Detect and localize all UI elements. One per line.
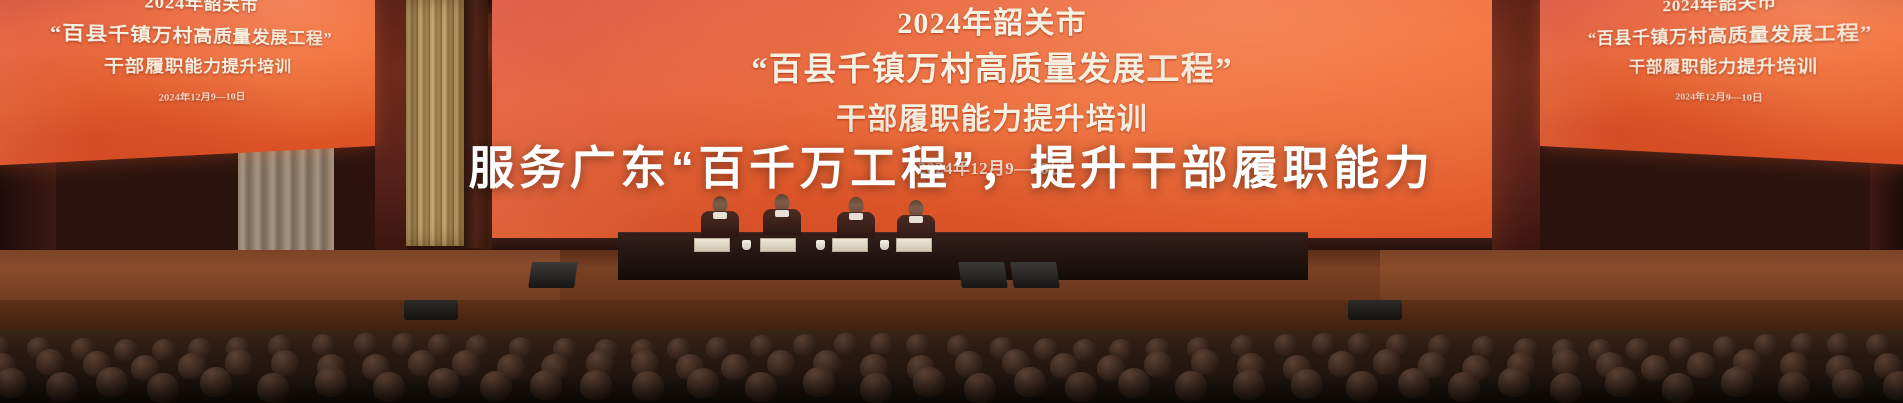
seated-official — [896, 200, 936, 242]
table-nameplate — [896, 238, 932, 252]
seated-official — [762, 194, 802, 236]
led-center-line3: 干部履职能力提升培训 — [492, 94, 1492, 138]
audience-head — [1312, 333, 1336, 355]
seated-official — [836, 197, 876, 239]
audience-head — [1348, 333, 1372, 355]
stage-floor-monitor — [958, 262, 1008, 288]
audience-head — [1073, 339, 1097, 361]
audience-head — [793, 334, 817, 356]
led-center-line2: “百县千镇万村高质量发展工程” — [492, 42, 1492, 90]
led-left-line2: “百县千镇万村高质量发展工程” — [0, 14, 375, 50]
led-right-line3: 干部履职能力提升培训 — [1540, 52, 1903, 79]
audience-head — [834, 333, 858, 355]
water-cup — [742, 240, 751, 250]
led-center-line1: 2024年韶关市 — [492, 0, 1492, 42]
stage-planter — [1348, 300, 1402, 320]
audience-head — [312, 334, 336, 356]
table-nameplate — [694, 238, 730, 252]
audience-head — [1274, 334, 1298, 356]
stage-floor-monitor — [528, 262, 578, 288]
led-screen-center: 2024年韶关市 “百县千镇万村高质量发展工程” 干部履职能力提升培训 2024… — [492, 0, 1492, 256]
water-cup — [816, 240, 825, 250]
person-collar — [775, 210, 789, 217]
audience-head — [1552, 349, 1580, 375]
led-left-line3: 干部履职能力提升培训 — [0, 52, 375, 79]
led-screen-right: 2024年韶关市 “百县千镇万村高质量发展工程” 干部履职能力提升培训 2024… — [1540, 0, 1903, 167]
audience-head — [354, 333, 378, 355]
audience-head — [392, 333, 416, 355]
audience-head — [225, 349, 253, 375]
water-cup — [880, 240, 889, 250]
audience-head — [152, 339, 176, 361]
led-screen-left: 2024年韶关市 “百县千镇万村高质量发展工程” 干部履职能力提升培训 2024… — [0, 0, 375, 166]
audience-head — [870, 333, 894, 355]
table-nameplate — [760, 238, 796, 252]
audience-head — [1827, 333, 1851, 355]
person-collar — [909, 216, 923, 223]
led-right-line4: 2024年12月9—10日 — [1540, 88, 1903, 108]
conference-hall-photo: 2024年韶关市 “百县千镇万村高质量发展工程” 干部履职能力提升培训 2024… — [0, 0, 1903, 403]
table-nameplate — [832, 238, 868, 252]
audience-head — [408, 350, 436, 376]
led-center-line4: 2024年12月9—10日 — [492, 154, 1492, 179]
audience-head — [906, 334, 930, 356]
seated-official — [700, 196, 740, 238]
audience-shadow — [0, 373, 1903, 403]
person-collar — [713, 212, 727, 219]
led-left-line4: 2024年12月9—10日 — [0, 88, 375, 108]
wood-slat-column-left — [406, 0, 464, 246]
stage-planter — [404, 300, 458, 320]
audience-head — [1713, 336, 1737, 358]
audience-head — [1373, 349, 1401, 375]
column-edge-left — [464, 0, 488, 248]
stage-floor-monitor — [1010, 262, 1060, 288]
person-collar — [849, 213, 863, 220]
wall-panel-left — [375, 0, 407, 252]
